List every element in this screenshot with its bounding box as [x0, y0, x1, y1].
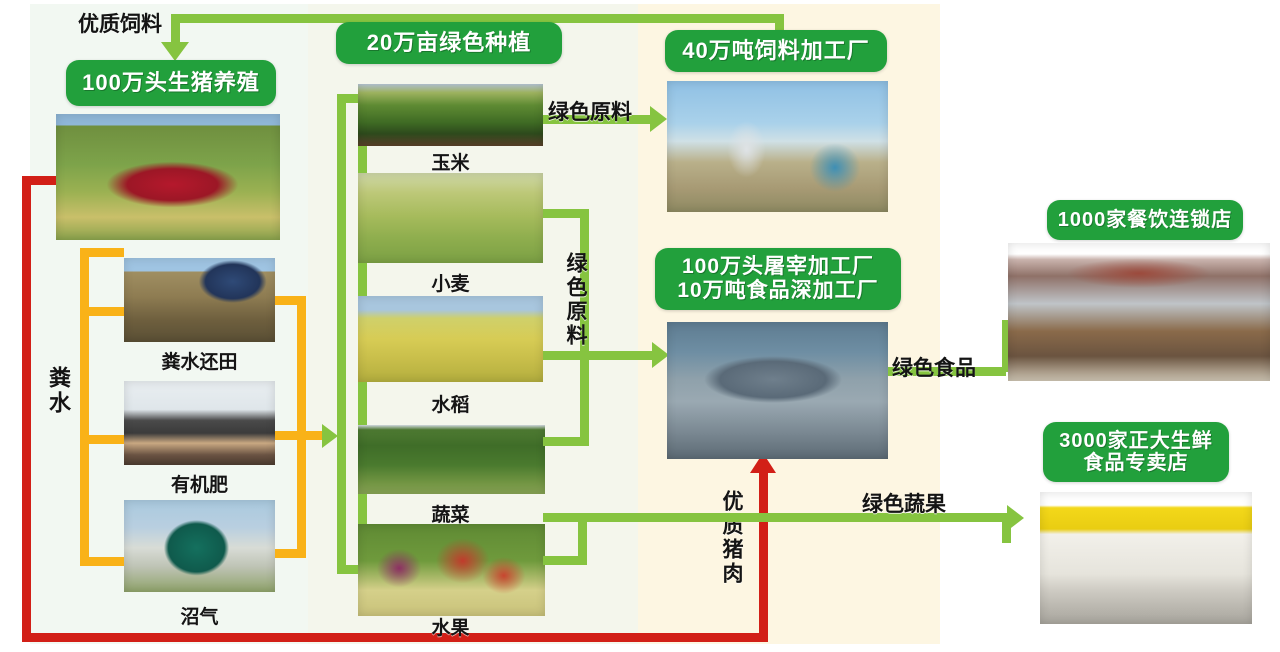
manure-return-riser-1: [297, 296, 306, 436]
restaurant-interior-photo: [1008, 243, 1270, 381]
node-fresh-stores[interactable]: 3000家正大生鲜 食品专卖店: [1043, 422, 1229, 482]
vegetable-field-photo: [358, 425, 545, 494]
flow-label-manure-water: 粪水: [42, 366, 74, 416]
manure-bus-top-stub: [80, 248, 124, 257]
crop-caption-2: 水稻: [358, 390, 543, 417]
node-fresh-stores-label-line2: 食品专卖店: [1084, 452, 1189, 474]
manure-to-crops-arrowhead: [322, 424, 338, 448]
flow-label-green-material-mid: 绿色原料: [560, 252, 590, 348]
node-pig-farm[interactable]: 100万头生猪养殖: [66, 60, 276, 106]
waste-item-caption-1: 有机肥: [124, 470, 275, 497]
node-processing-plant[interactable]: 100万头屠宰加工厂 10万吨食品深加工厂: [655, 248, 901, 310]
organic-fertilizer-plant-photo: [124, 381, 275, 465]
flow-label-green-material-top: 绿色原料: [548, 96, 632, 126]
waste-item-caption-2: 沼气: [124, 602, 275, 629]
feed-processing-plant-photo: [667, 81, 888, 212]
material-mid-riser-2: [580, 351, 589, 443]
fruit-orchard-photo: [358, 524, 545, 616]
crop-caption-1: 小麦: [358, 269, 543, 296]
wheat-field-photo: [358, 173, 543, 263]
crops-bus-vertical: [337, 94, 346, 574]
manure-spreading-photo: [124, 258, 275, 342]
node-feed-plant-label: 40万吨饲料加工厂: [682, 39, 869, 64]
crop-caption-3: 蔬菜: [358, 500, 543, 527]
material-mid-flow-line: [580, 351, 655, 360]
node-processing-plant-label-line2: 10万吨食品深加工厂: [677, 279, 878, 303]
node-processing-plant-label-line1: 100万头屠宰加工厂: [682, 255, 874, 279]
flow-label-quality-pork: 优质猪肉: [716, 490, 746, 586]
material-top-arrowhead: [650, 106, 667, 132]
flow-label-green-food: 绿色食品: [892, 352, 976, 382]
node-restaurant-chain-label: 1000家餐饮连锁店: [1058, 209, 1233, 231]
corn-field-photo: [358, 84, 543, 146]
produce-arrowhead: [1007, 505, 1024, 531]
produce-branch-fruit: [543, 556, 587, 565]
pork-flow-segment-left: [22, 176, 31, 642]
node-pig-farm-label: 100万头生猪养殖: [82, 71, 260, 96]
node-planting-label: 20万亩绿色种植: [367, 31, 531, 56]
crop-caption-4: 水果: [358, 613, 543, 640]
crop-caption-0: 玉米: [358, 148, 543, 175]
node-fresh-stores-label-line1: 3000家正大生鲜: [1059, 430, 1213, 452]
feed-flow-arrowhead: [161, 42, 189, 61]
manure-bus-vertical: [80, 248, 89, 566]
node-planting[interactable]: 20万亩绿色种植: [336, 22, 562, 64]
pig-farm-aerial-photo: [56, 114, 280, 240]
pork-flow-segment-riser: [759, 472, 768, 642]
waste-item-caption-0: 粪水还田: [124, 347, 275, 374]
flow-label-green-produce: 绿色蔬果: [862, 488, 946, 518]
manure-branch-3: [80, 557, 124, 566]
manure-return-riser-2: [297, 431, 306, 558]
supply-chain-diagram: 优质猪肉 优质饲料 100万头生猪养殖 粪水 粪水还田 有机肥 沼气 20万亩绿…: [0, 0, 1280, 652]
manure-branch-1: [80, 307, 124, 316]
manure-branch-2: [80, 435, 124, 444]
flow-label-quality-feed: 优质饲料: [78, 8, 162, 38]
slaughter-and-food-processing-plant-photo: [667, 322, 888, 459]
node-feed-plant[interactable]: 40万吨饲料加工厂: [665, 30, 887, 72]
node-restaurant-chain[interactable]: 1000家餐饮连锁店: [1047, 200, 1243, 240]
fresh-food-store-photo: [1040, 492, 1252, 624]
biogas-digester-photo: [124, 500, 275, 592]
rice-paddy-photo: [358, 296, 543, 382]
